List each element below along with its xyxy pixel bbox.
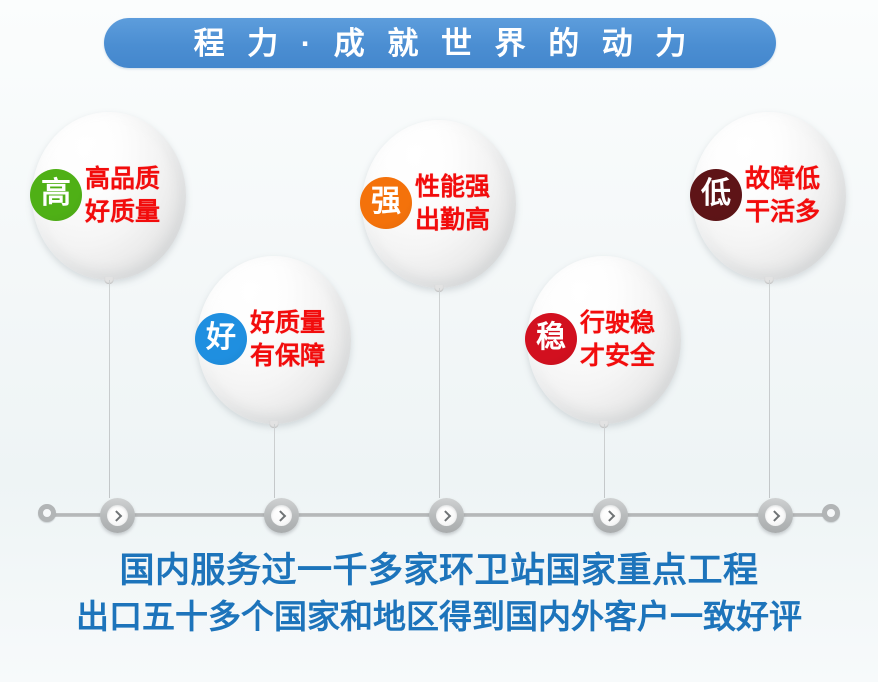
balloon-phrase-line-1: 行驶稳 (580, 307, 655, 340)
chevron-right-icon (768, 510, 779, 521)
footer: 国内服务过一千多家环卫站国家重点工程 出口五十多个国家和地区得到国内外客户一致好… (0, 548, 878, 640)
balloon-phrase: 性能强出勤高 (415, 171, 490, 237)
balloon-string (439, 288, 440, 498)
chevron-right-icon (274, 510, 285, 521)
timeline-end-dot-right (822, 504, 840, 522)
timeline-node-core (107, 505, 128, 526)
balloon-1: 高高品质好质量 (32, 112, 186, 280)
balloon-badge-char: 好 (206, 323, 236, 353)
balloon-phrase-line-1: 故障低 (745, 163, 820, 196)
balloon-string (769, 280, 770, 498)
timeline-node-1[interactable] (100, 498, 135, 533)
balloon-phrase-line-2: 好质量 (85, 196, 160, 229)
balloon-phrase: 好质量有保障 (250, 307, 325, 373)
balloon-badge-char: 低 (701, 179, 731, 209)
timeline-node-5[interactable] (758, 498, 793, 533)
chevron-right-icon (603, 510, 614, 521)
balloon-content: 高高品质好质量 (32, 112, 186, 280)
balloon-4: 稳行驶稳才安全 (527, 256, 681, 424)
footer-line-2: 出口五十多个国家和地区得到国内外客户一致好评 (0, 594, 878, 640)
balloon-content: 低故障低干活多 (692, 112, 846, 280)
chevron-right-icon (110, 510, 121, 521)
balloon-5: 低故障低干活多 (692, 112, 846, 280)
timeline-node-2[interactable] (264, 498, 299, 533)
balloon-content: 好好质量有保障 (197, 256, 351, 424)
balloon-phrase-line-1: 好质量 (250, 307, 325, 340)
balloon-string (109, 280, 110, 498)
timeline-node-core (600, 505, 621, 526)
timeline-node-4[interactable] (593, 498, 628, 533)
balloon-badge-char: 强 (371, 187, 401, 217)
header-banner: 程 力 · 成 就 世 界 的 动 力 (104, 18, 776, 68)
balloon-badge: 低 (690, 169, 742, 221)
balloon-badge: 高 (30, 169, 82, 221)
balloon-phrase-line-2: 干活多 (745, 196, 820, 229)
balloon-badge: 稳 (525, 313, 577, 365)
balloon-phrase-line-1: 高品质 (85, 163, 160, 196)
balloon-phrase-line-2: 才安全 (580, 340, 655, 373)
footer-line-1: 国内服务过一千多家环卫站国家重点工程 (0, 548, 878, 594)
timeline-node-core (271, 505, 292, 526)
promo-poster: 程 力 · 成 就 世 界 的 动 力 高高品质好质量好好质量有保障强性能强出勤… (0, 0, 878, 682)
balloon-phrase: 故障低干活多 (745, 163, 820, 229)
balloon-badge-char: 稳 (536, 323, 566, 353)
balloon-phrase-line-2: 有保障 (250, 340, 325, 373)
balloon-phrase-line-1: 性能强 (415, 171, 490, 204)
timeline-node-3[interactable] (429, 498, 464, 533)
balloon-badge-char: 高 (41, 179, 71, 209)
balloon-phrase: 行驶稳才安全 (580, 307, 655, 373)
balloon-badge: 强 (360, 177, 412, 229)
balloon-content: 强性能强出勤高 (362, 120, 516, 288)
chevron-right-icon (439, 510, 450, 521)
balloon-string (604, 424, 605, 498)
balloon-string (274, 424, 275, 498)
header-title: 程 力 · 成 就 世 界 的 动 力 (187, 28, 694, 59)
balloon-badge: 好 (195, 313, 247, 365)
timeline-node-core (765, 505, 786, 526)
balloon-content: 稳行驶稳才安全 (527, 256, 681, 424)
timeline (0, 496, 878, 538)
timeline-node-core (436, 505, 457, 526)
timeline-end-dot-left (38, 504, 56, 522)
balloon-3: 强性能强出勤高 (362, 120, 516, 288)
balloon-2: 好好质量有保障 (197, 256, 351, 424)
balloon-phrase-line-2: 出勤高 (415, 204, 490, 237)
balloon-phrase: 高品质好质量 (85, 163, 160, 229)
